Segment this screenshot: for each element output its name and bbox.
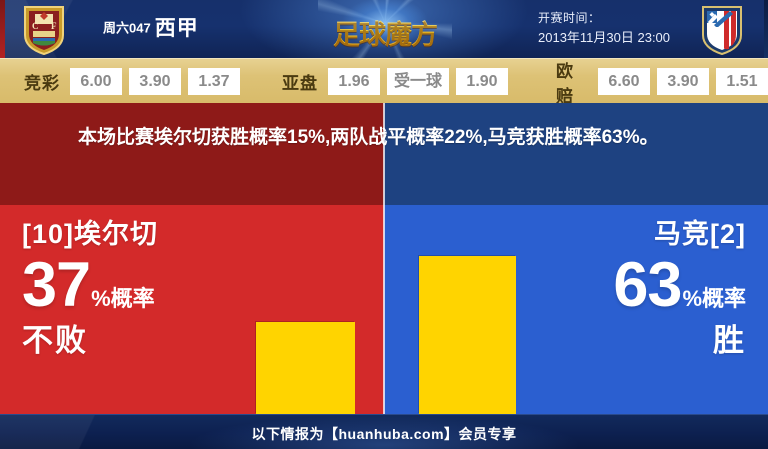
svg-text:C: C — [32, 21, 39, 31]
summary-banner-left-bg — [0, 103, 384, 205]
away-probability-bar — [419, 256, 516, 414]
odds-value[interactable]: 6.00 — [70, 68, 122, 95]
home-probability-bar — [256, 322, 355, 414]
odds-group-yapan: 亚盘 1.96 受一球 1.90 — [282, 59, 508, 104]
home-team-crest-icon: C F — [22, 5, 66, 55]
home-probability: 37%概率 — [22, 254, 158, 317]
footer-note: 以下情报为【huanhuba.com】会员专享 — [0, 424, 768, 444]
away-probability-unit: %概率 — [682, 286, 746, 311]
summary-text: 本场比赛埃尔切获胜概率15%,两队战平概率22%,马竞获胜概率63%。 — [78, 121, 698, 154]
odds-value[interactable]: 1.51 — [716, 68, 768, 95]
probability-panels: [10]埃尔切 37%概率 不败 马竞[2] 63%概率 胜 — [0, 205, 768, 414]
odds-value[interactable]: 6.60 — [598, 68, 650, 95]
odds-value[interactable]: 1.37 — [188, 68, 240, 95]
odds-group-label: 亚盘 — [282, 69, 318, 94]
odds-group-label: 欧赔 — [556, 57, 588, 107]
odds-group-label: 竞彩 — [24, 69, 60, 94]
home-probability-value: 37 — [22, 250, 90, 320]
away-team-crest-icon — [700, 5, 744, 55]
header-left-accent — [0, 0, 5, 58]
brand-logo-text: 足球魔方 — [318, 13, 452, 52]
odds-value[interactable]: 1.96 — [328, 68, 380, 95]
league-info: 周六047西甲 — [103, 12, 199, 42]
svg-text:F: F — [51, 21, 57, 31]
odds-group-oupei: 欧赔 6.60 3.90 1.51 — [556, 59, 768, 104]
away-team-name: 马竞[2] — [613, 221, 746, 248]
home-team-name: [10]埃尔切 — [22, 221, 158, 248]
away-probability-value: 63 — [613, 250, 681, 320]
away-panel-content: 马竞[2] 63%概率 胜 — [613, 221, 746, 356]
odds-value[interactable]: 3.90 — [129, 68, 181, 95]
odds-value[interactable]: 3.90 — [657, 68, 709, 95]
odds-group-jingcai: 竞彩 6.00 3.90 1.37 — [24, 59, 240, 104]
header-right-accent — [764, 0, 768, 58]
handicap-value[interactable]: 受一球 — [387, 68, 449, 95]
kickoff-time: 2013年11月30日 23:00 — [538, 28, 670, 48]
kickoff-info: 开赛时间： 2013年11月30日 23:00 — [538, 9, 670, 48]
round-number: 周六047 — [103, 21, 151, 36]
away-verdict: 胜 — [613, 325, 746, 356]
footer-bar: 以下情报为【huanhuba.com】会员专享 — [0, 414, 768, 449]
panel-divider — [383, 103, 385, 414]
home-verdict: 不败 — [22, 325, 158, 356]
home-probability-unit: %概率 — [91, 286, 155, 311]
league-name: 西甲 — [155, 17, 199, 40]
kickoff-label: 开赛时间： — [538, 9, 670, 28]
brand-logo: 足球魔方 — [318, 0, 452, 58]
match-prediction-card: C F 周六047西甲 足球魔方 开赛时间： 2013年11月30日 23:00 — [0, 0, 768, 449]
header-bar: C F 周六047西甲 足球魔方 开赛时间： 2013年11月30日 23:00 — [0, 0, 768, 58]
odds-bar: 竞彩 6.00 3.90 1.37 亚盘 1.96 受一球 1.90 欧赔 6.… — [0, 58, 768, 103]
odds-value[interactable]: 1.90 — [456, 68, 508, 95]
home-panel-content: [10]埃尔切 37%概率 不败 — [22, 221, 158, 356]
away-probability: 63%概率 — [613, 254, 746, 317]
summary-banner-right-bg — [384, 103, 768, 205]
